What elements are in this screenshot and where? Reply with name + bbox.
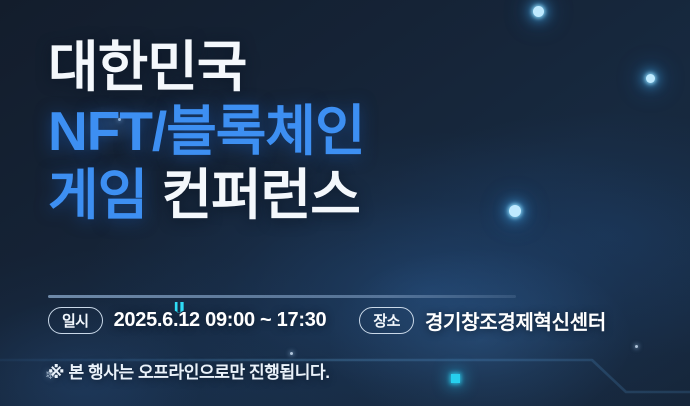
accent-dot-right xyxy=(635,345,638,348)
headline-line-1: 대한민국 xyxy=(48,36,365,100)
headline-line-2: NFT/블록체인 xyxy=(48,100,365,164)
section-divider xyxy=(48,295,516,298)
date-value-wrap: 2025.6.12 09:00 ~ 17:30 xyxy=(103,309,327,332)
date-value: 2025.6.12 09:00 ~ 17:30 xyxy=(114,309,327,331)
headline-line-3-blue: 게임 xyxy=(48,164,147,226)
event-info-row: 일시 2025.6.12 09:00 ~ 17:30 장소 경기창조경제혁신센터 xyxy=(48,306,606,335)
headline-line-3-space xyxy=(147,164,161,226)
offline-only-note: ※ 본 행사는 오프라인으로만 진행됩니다. xyxy=(48,358,330,383)
headline-line-3-white: 컨퍼런스 xyxy=(161,164,359,226)
conference-banner: ❄ 대한민국 NFT/블록체인 게임 컨퍼런스 일시 2025.6.12 09:… xyxy=(0,0,690,406)
circuit-node-upper-right xyxy=(646,74,655,83)
headline-line-3: 게임 컨퍼런스 xyxy=(48,164,365,228)
cyan-square-marker xyxy=(451,374,460,383)
headline-block: 대한민국 NFT/블록체인 게임 컨퍼런스 xyxy=(48,36,365,227)
venue-value: 경기창조경제혁신센터 xyxy=(425,306,606,335)
accent-dot-note xyxy=(290,352,293,355)
circuit-node-mid-right xyxy=(509,205,521,217)
circuit-node-top-right xyxy=(533,6,544,17)
venue-label-badge: 장소 xyxy=(359,307,414,334)
date-label-badge: 일시 xyxy=(48,307,103,334)
